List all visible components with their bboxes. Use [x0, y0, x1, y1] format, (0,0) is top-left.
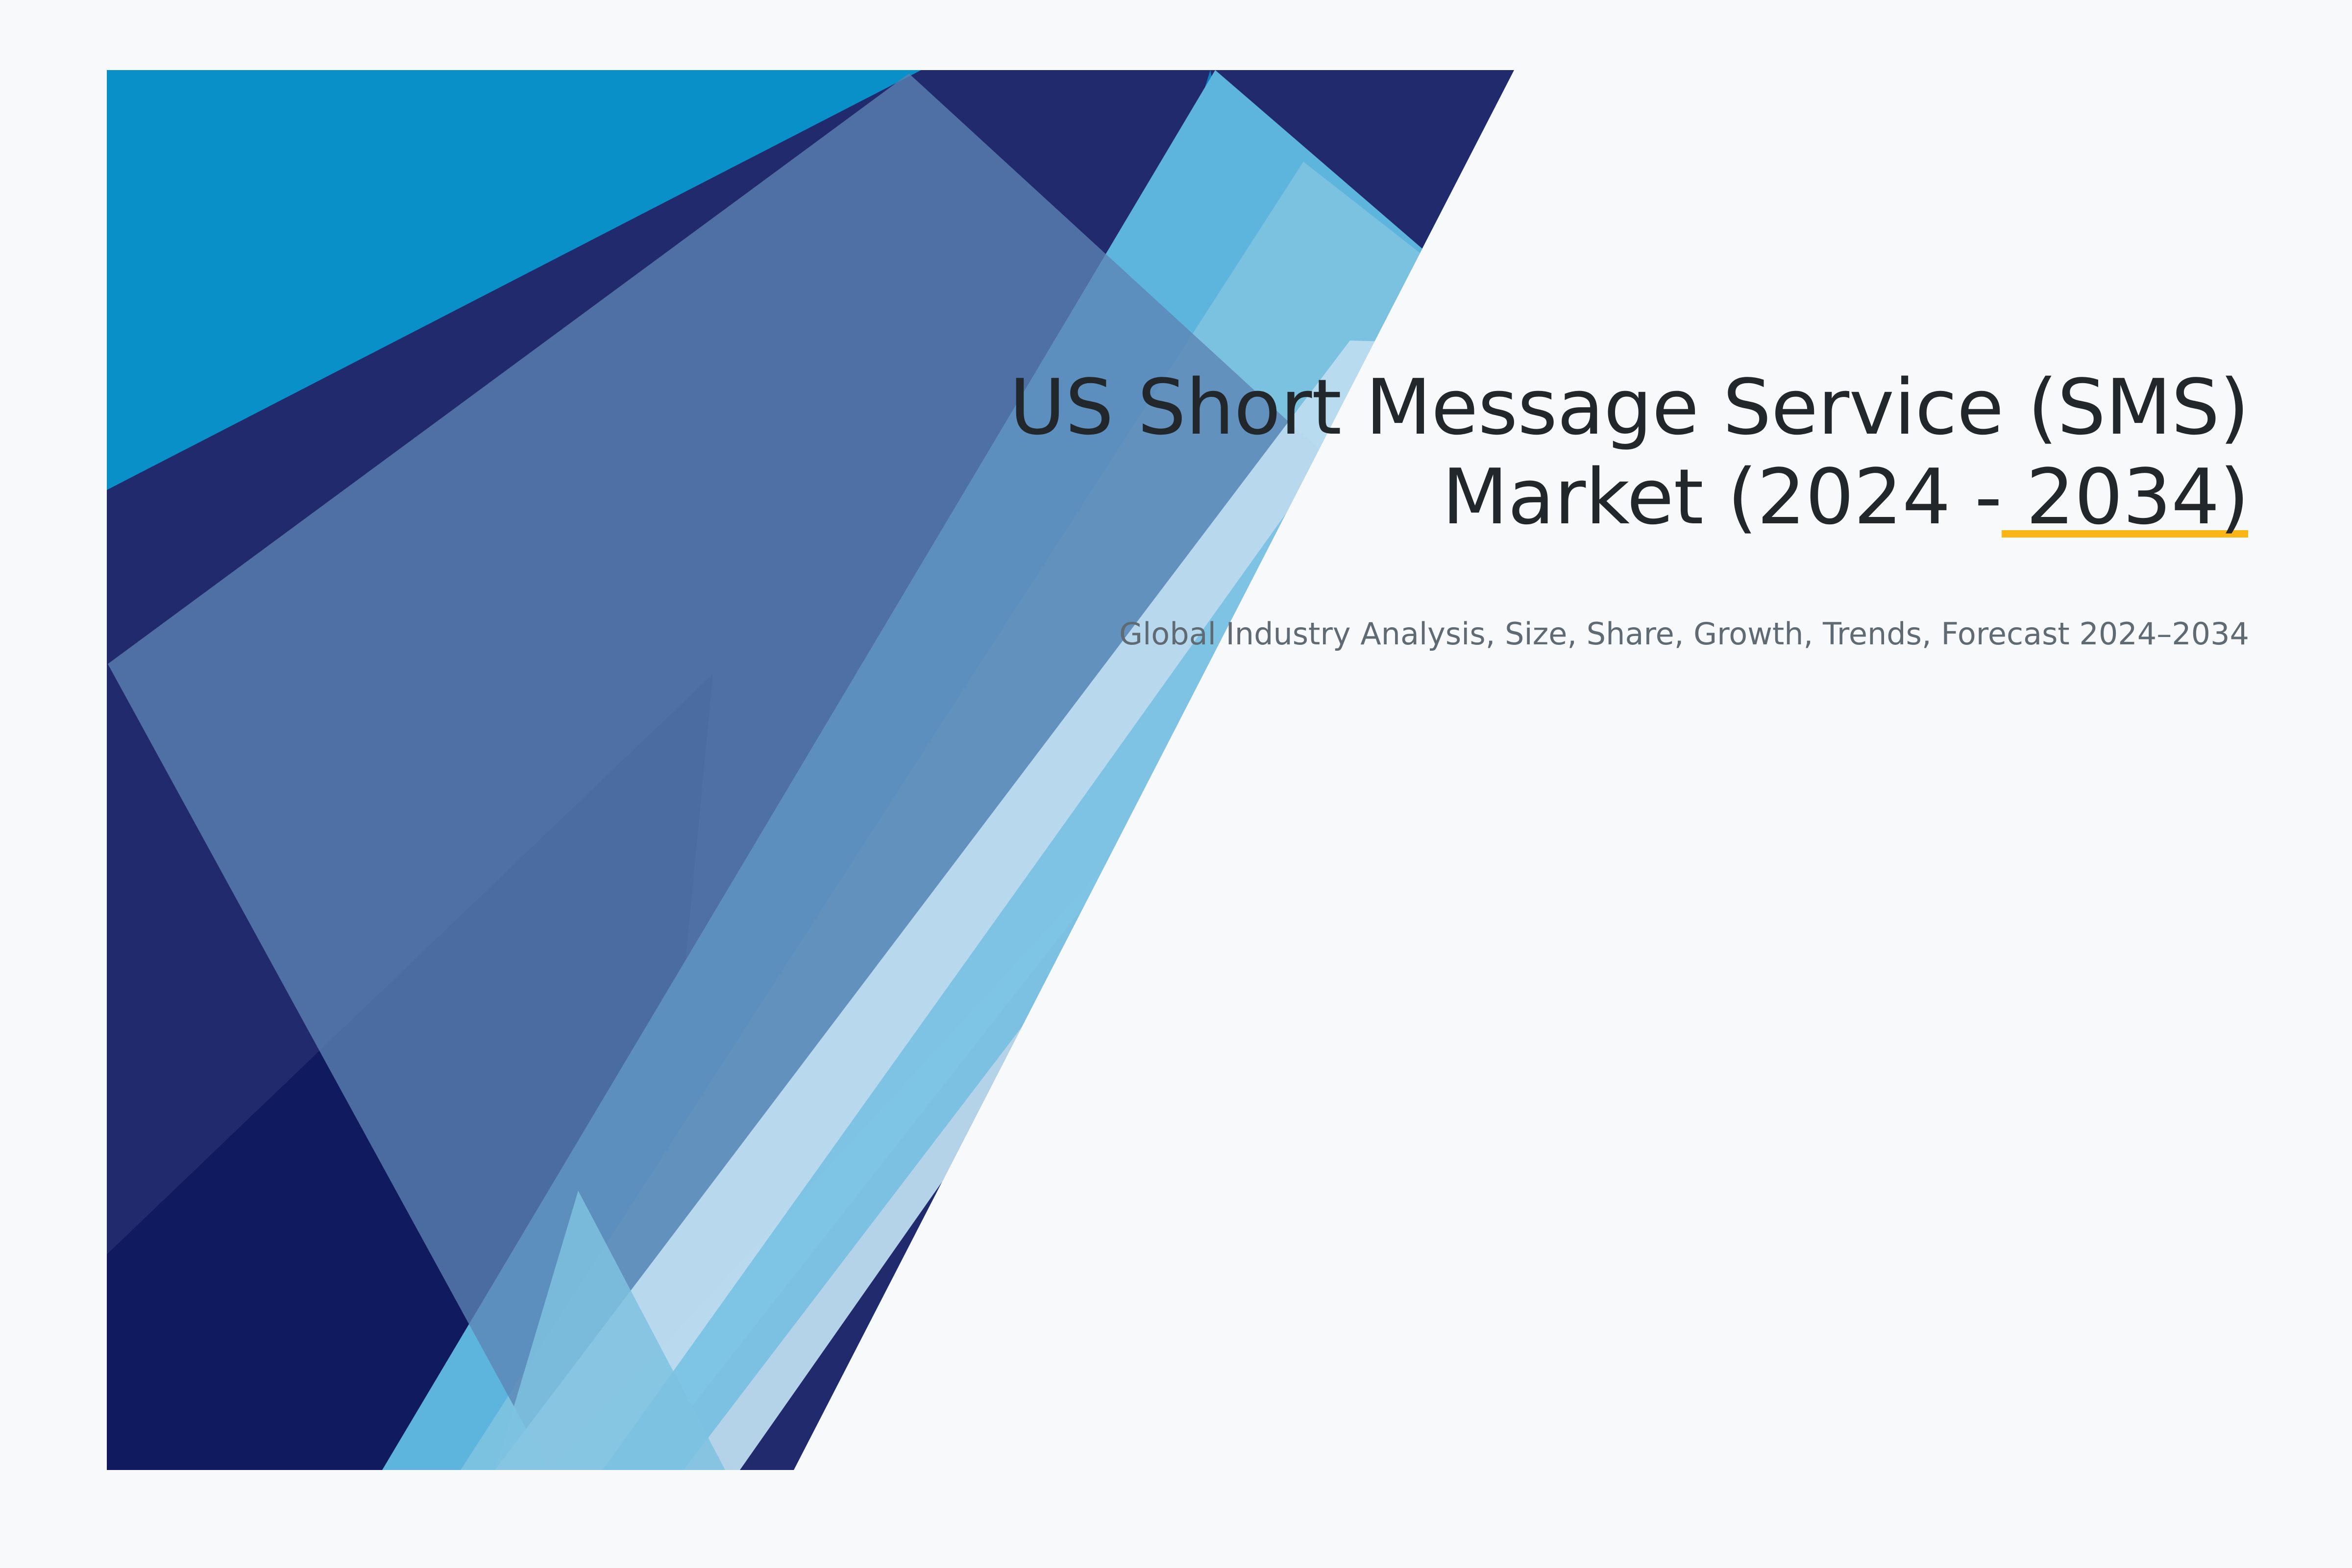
report-cover-page: US Short Message Service (SMS) Market (2…: [0, 0, 2352, 1568]
title-wrapper: US Short Message Service (SMS) Market (2…: [931, 363, 2249, 541]
page-title: US Short Message Service (SMS) Market (2…: [931, 363, 2249, 541]
cover-artwork: [0, 0, 2352, 1568]
cover-text-block: US Short Message Service (SMS) Market (2…: [931, 363, 2249, 654]
page-subtitle: Global Industry Analysis, Size, Share, G…: [931, 614, 2249, 654]
